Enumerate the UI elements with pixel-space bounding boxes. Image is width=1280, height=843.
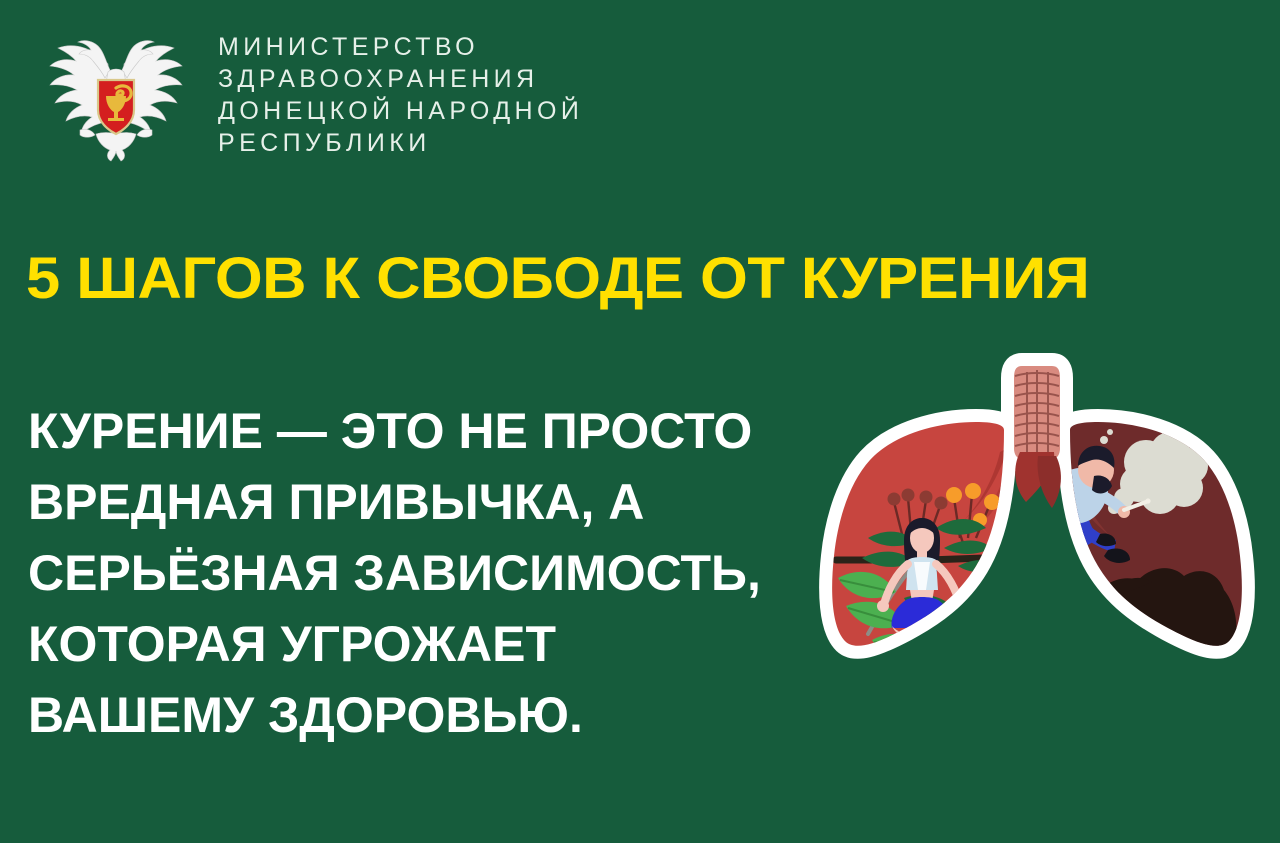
body-line-5: ВАШЕМУ ЗДОРОВЬЮ.	[28, 680, 828, 751]
header: МИНИСТЕРСТВО ЗДРАВООХРАНЕНИЯ ДОНЕЦКОЙ НА…	[36, 18, 583, 168]
ministry-line-1: МИНИСТЕРСТВО	[218, 34, 583, 61]
body-line-3: СЕРЬЁЗНАЯ ЗАВИСИМОСТЬ,	[28, 538, 828, 609]
poster-root: МИНИСТЕРСТВО ЗДРАВООХРАНЕНИЯ ДОНЕЦКОЙ НА…	[0, 0, 1280, 843]
double-headed-eagle-emblem	[36, 18, 196, 168]
ministry-name: МИНИСТЕРСТВО ЗДРАВООХРАНЕНИЯ ДОНЕЦКОЙ НА…	[218, 18, 583, 157]
ministry-line-4: РЕСПУБЛИКИ	[218, 130, 583, 157]
lungs-illustration	[808, 352, 1280, 812]
body-line-2: ВРЕДНАЯ ПРИВЫЧКА, А	[28, 467, 828, 538]
page-title: 5 ШАГОВ К СВОБОДЕ ОТ КУРЕНИЯ	[26, 248, 1280, 310]
body-text: КУРЕНИЕ — ЭТО НЕ ПРОСТО ВРЕДНАЯ ПРИВЫЧКА…	[28, 396, 828, 751]
body-line-4: КОТОРАЯ УГРОЖАЕТ	[28, 609, 828, 680]
ministry-line-3: ДОНЕЦКОЙ НАРОДНОЙ	[218, 98, 583, 125]
trachea	[1014, 366, 1061, 508]
body-line-1: КУРЕНИЕ — ЭТО НЕ ПРОСТО	[28, 396, 828, 467]
ministry-line-2: ЗДРАВООХРАНЕНИЯ	[218, 66, 583, 93]
